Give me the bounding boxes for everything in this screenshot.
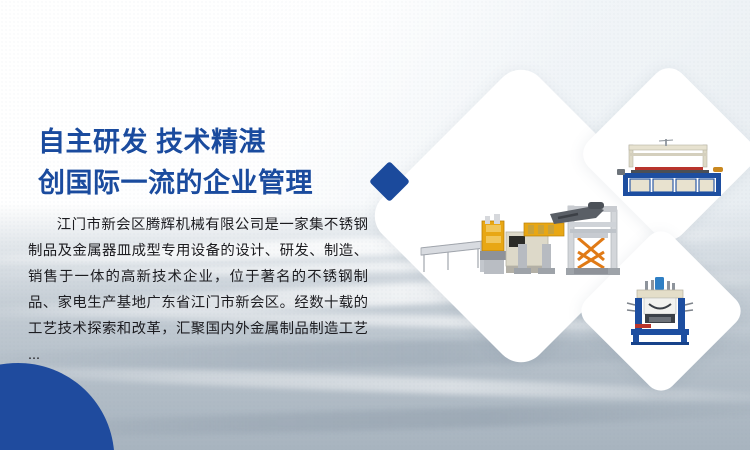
company-description: 江门市新会区腾辉机械有限公司是一家集不锈钢制品及金属器皿成型专用设备的设计、研发… [28, 212, 368, 368]
page-title: 自主研发 技术精湛 创国际一流的企业管理 [38, 122, 378, 204]
metal-wave [0, 398, 750, 443]
company-intro-banner: 自主研发 技术精湛 创国际一流的企业管理 江门市新会区腾辉机械有限公司是一家集不… [0, 0, 750, 450]
